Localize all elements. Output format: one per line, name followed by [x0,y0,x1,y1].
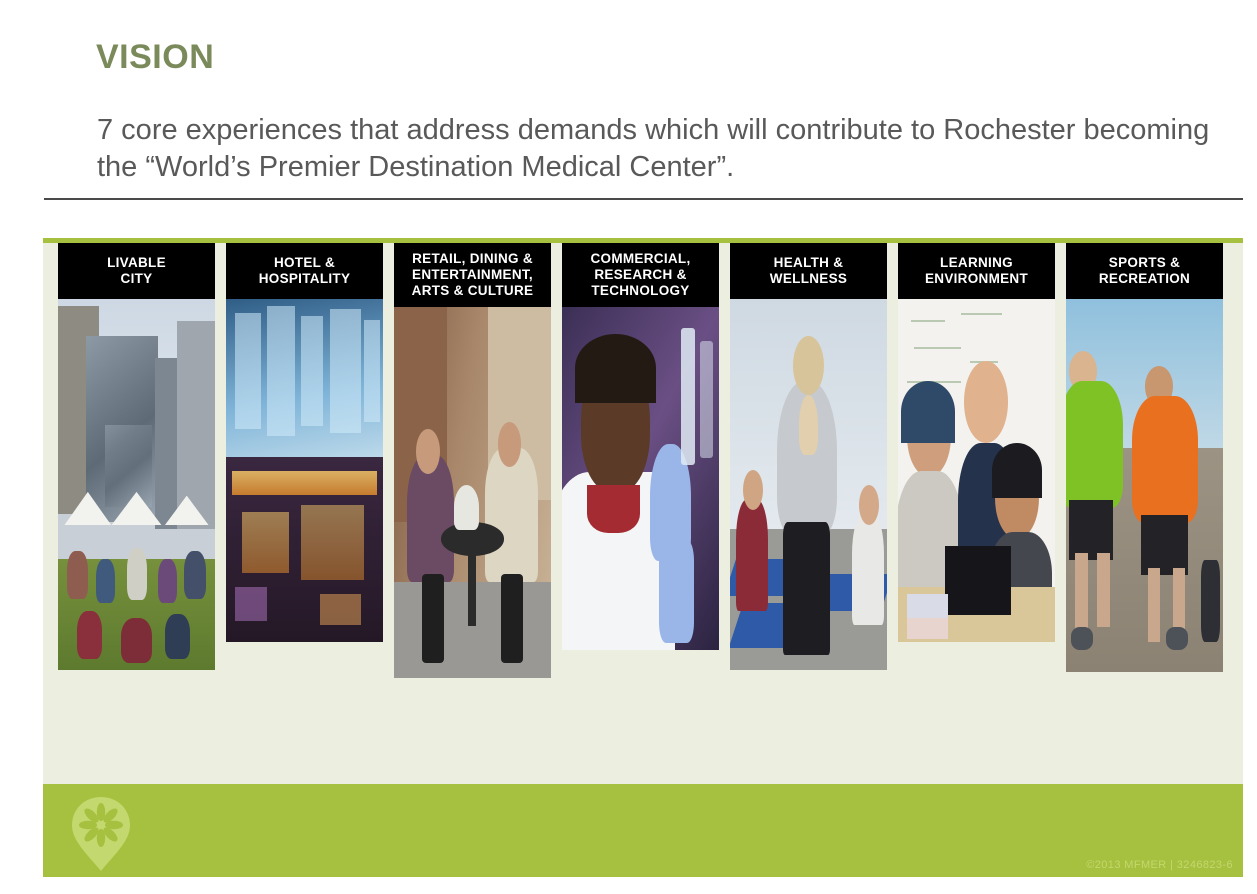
column-header-line: SPORTS & [1109,255,1180,270]
column-header-line: COMMERCIAL, [590,251,690,266]
column-header-line: ENVIRONMENT [925,271,1028,286]
commercial-research-photo [562,307,719,650]
column-header-line: RETAIL, DINING & [412,251,533,266]
column-header-line: WELLNESS [770,271,847,286]
column-header-line: CITY [121,271,153,286]
page-subtitle: 7 core experiences that address demands … [97,112,1227,186]
page-title: VISION [96,38,214,77]
experience-column-commercial-research[interactable]: COMMERCIAL, RESEARCH & TECHNOLOGY [562,243,719,650]
column-header-line: TECHNOLOGY [591,283,689,298]
experience-columns-band: LIVABLE CITY [43,238,1243,784]
experience-column-health-wellness[interactable]: HEALTH & WELLNESS [730,243,887,670]
experience-column-learning-environment[interactable]: LEARNING ENVIRONMENT [898,243,1055,642]
column-header-retail-dining: RETAIL, DINING & ENTERTAINMENT, ARTS & C… [394,243,551,307]
experience-column-retail-dining[interactable]: RETAIL, DINING & ENTERTAINMENT, ARTS & C… [394,243,551,678]
column-header-line: RESEARCH & [594,267,686,282]
column-header-line: HOSPITALITY [259,271,351,286]
column-header-commercial-research: COMMERCIAL, RESEARCH & TECHNOLOGY [562,243,719,307]
experience-column-livable-city[interactable]: LIVABLE CITY [58,243,215,670]
livable-city-photo [58,299,215,670]
column-header-line: LIVABLE [107,255,166,270]
column-header-line: RECREATION [1099,271,1190,286]
column-header-line: HEALTH & [774,255,844,270]
learning-environment-photo [898,299,1055,642]
experience-column-sports-recreation[interactable]: SPORTS & RECREATION [1066,243,1223,672]
column-header-line: ENTERTAINMENT, [412,267,533,282]
column-header-health-wellness: HEALTH & WELLNESS [730,243,887,299]
retail-dining-photo [394,307,551,678]
sports-recreation-photo [1066,299,1223,672]
column-header-line: HOTEL & [274,255,335,270]
column-header-hotel-hospitality: HOTEL & HOSPITALITY [226,243,383,299]
mayo-clinic-pin-logo [66,795,136,873]
column-header-line: ARTS & CULTURE [412,283,534,298]
health-wellness-photo [730,299,887,670]
column-header-line: LEARNING [940,255,1013,270]
header-divider [44,198,1243,200]
hotel-hospitality-photo [226,299,383,642]
column-header-learning-environment: LEARNING ENVIRONMENT [898,243,1055,299]
column-header-sports-recreation: SPORTS & RECREATION [1066,243,1223,299]
experience-column-hotel-hospitality[interactable]: HOTEL & HOSPITALITY [226,243,383,642]
copyright-credit: ©2013 MFMER | 3246823-6 [1086,859,1233,871]
column-header-livable-city: LIVABLE CITY [58,243,215,299]
footer-band: ©2013 MFMER | 3246823-6 [43,784,1243,877]
